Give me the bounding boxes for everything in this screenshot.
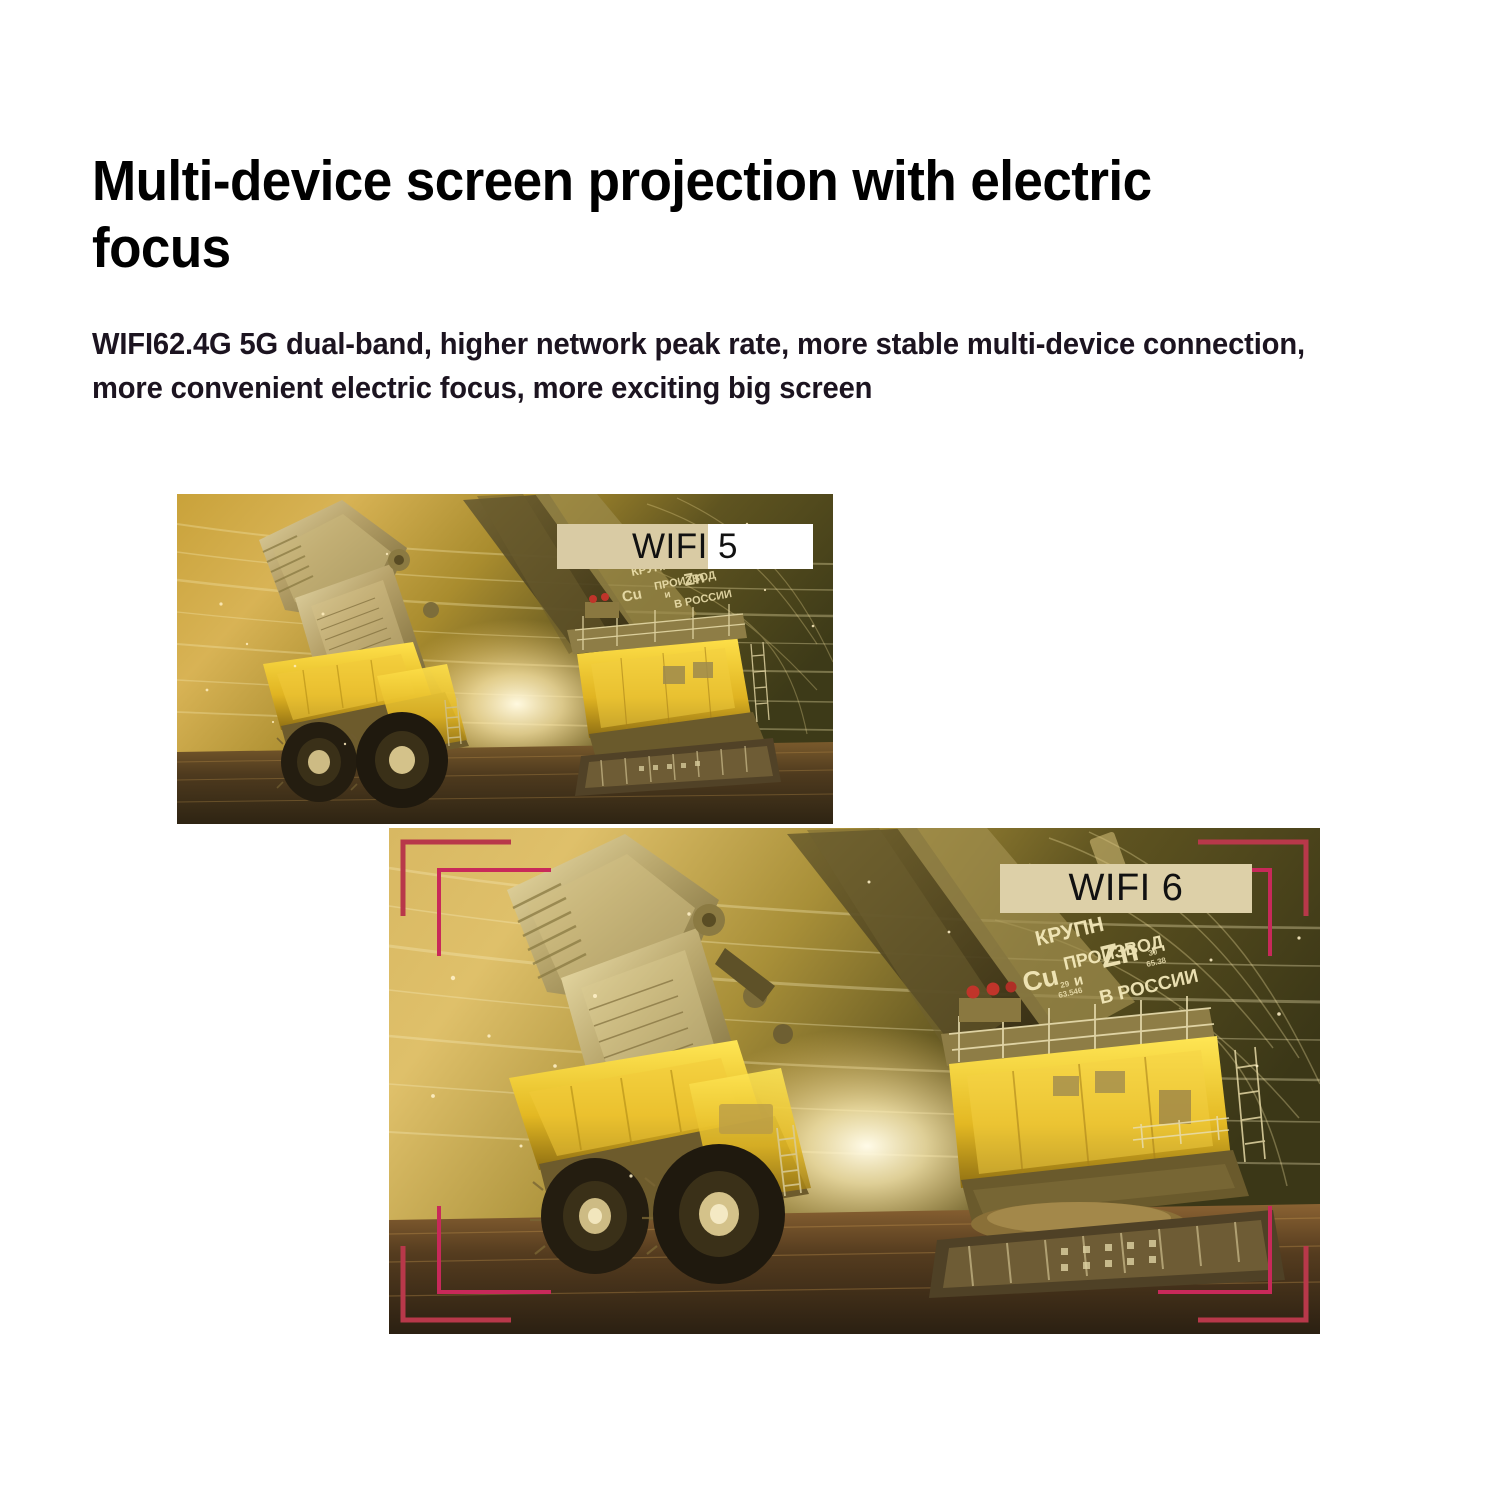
wifi6-screenshot: КРУПН ПРОИЗВОД Cu и Zn В РОССИИ 29 63.54… xyxy=(389,828,1320,1334)
wifi5-screenshot: КРУПН ПРОИЗВОД Cu и Zn В РОССИИ xyxy=(177,494,833,824)
page-title: Multi-device screen projection with elec… xyxy=(92,148,1236,281)
page-subtitle: WIFI62.4G 5G dual-band, higher network p… xyxy=(92,322,1362,410)
wifi6-badge: WIFI 6 xyxy=(1000,864,1252,913)
svg-text:Zn: Zn xyxy=(682,567,706,590)
wifi5-badge: WIFI 5 xyxy=(557,524,813,569)
product-feature-page: Multi-device screen projection with elec… xyxy=(0,0,1500,1500)
